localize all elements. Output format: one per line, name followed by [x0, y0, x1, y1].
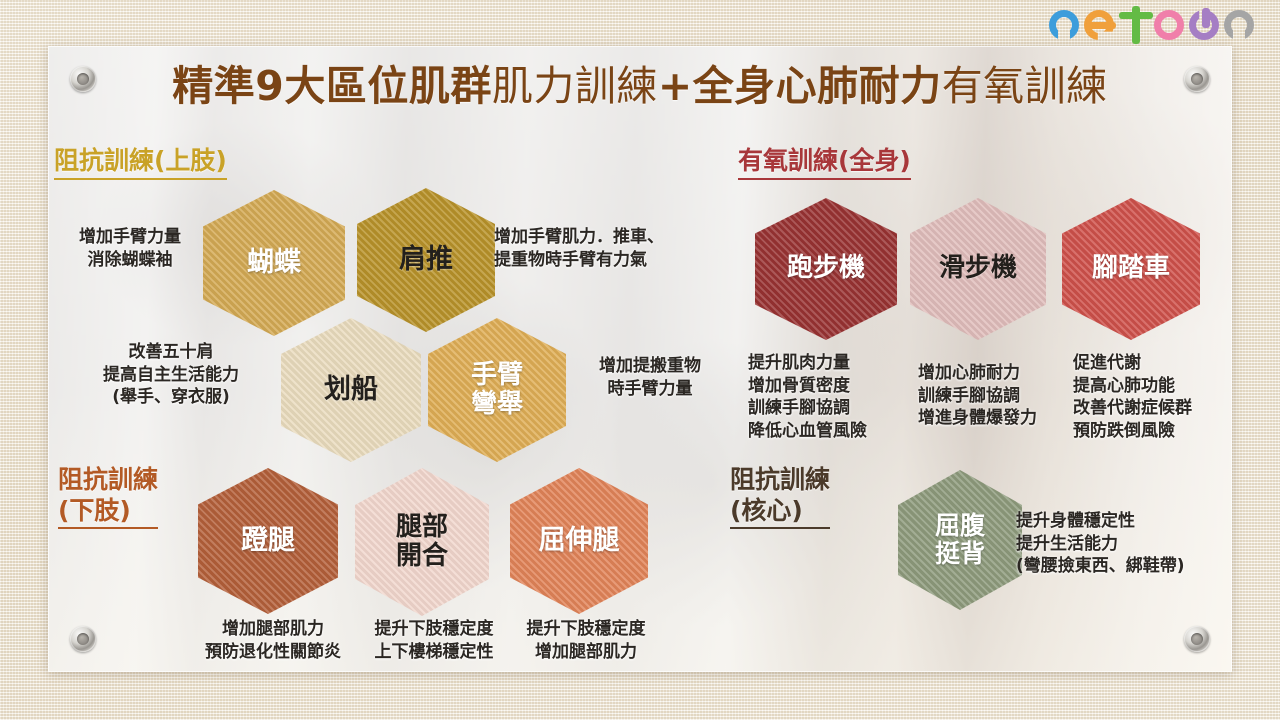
netown-logo	[1049, 6, 1258, 40]
logo-letter-t-icon	[1119, 6, 1153, 40]
note-treadmill: 提升肌肉力量 增加骨質密度 訓練手腳協調 降低心血管風險	[748, 352, 908, 442]
section-heading-core: 阻抗訓練 (核心)	[730, 465, 830, 529]
note-abdominal: 提升身體穩定性 提升生活能力 (彎腰撿東西、綁鞋帶)	[1016, 510, 1246, 578]
page-title: 精準9大區位肌群肌力訓練+全身心肺耐力有氧訓練	[0, 66, 1280, 107]
note-rowing: 改善五十肩 提高自主生活能力 (舉手、穿衣服)	[68, 341, 274, 409]
section-heading-lower-body-label: 阻抗訓練 (下肢)	[58, 465, 158, 529]
logo-letter-w-icon	[1189, 6, 1223, 40]
grommet-top-left-icon	[70, 66, 96, 92]
logo-letter-o-icon	[1154, 6, 1188, 40]
grommet-bottom-left-icon	[70, 626, 96, 652]
title-part-4: 有氧訓練	[942, 62, 1108, 110]
grommet-top-right-icon	[1184, 66, 1210, 92]
logo-letter-e-icon	[1084, 6, 1118, 40]
hexagon-treadmill-label: 跑步機	[787, 254, 865, 283]
note-leg-press: 增加腿部肌力 預防退化性關節炎	[190, 618, 356, 663]
note-arm-curl: 增加提搬重物 時手臂力量	[575, 355, 725, 400]
section-heading-core-label: 阻抗訓練 (核心)	[730, 465, 830, 529]
hexagon-shoulder-press-label: 肩推	[399, 245, 453, 275]
hexagon-elliptical-label: 滑步機	[939, 254, 1017, 283]
section-heading-upper-body: 阻抗訓練(上肢)	[54, 146, 227, 180]
note-hip-abduction: 提升下肢穩定度 上下樓梯穩定性	[356, 618, 512, 663]
logo-letter-n-icon	[1049, 6, 1083, 40]
section-heading-upper-body-label: 阻抗訓練(上肢)	[54, 146, 227, 180]
hexagon-arm-curl-label: 手臂 彎舉	[471, 361, 523, 419]
section-heading-lower-body: 阻抗訓練 (下肢)	[58, 465, 158, 529]
hexagon-leg-extension-label: 屈伸腿	[539, 526, 620, 556]
note-bike: 促進代謝 提高心肺功能 改善代謝症候群 預防跌倒風險	[1073, 352, 1243, 442]
logo-letter-n2-icon	[1224, 6, 1258, 40]
title-part-2: 肌力訓練	[492, 62, 658, 110]
title-plus: +	[658, 62, 693, 110]
section-heading-aerobic-label: 有氧訓練(全身)	[738, 146, 911, 180]
hexagon-butterfly-label: 蝴蝶	[247, 248, 301, 278]
hexagon-abdominal-label: 屈腹 挺背	[935, 512, 985, 568]
hexagon-hip-abduction-label: 腿部 開合	[396, 513, 448, 571]
note-leg-extension: 提升下肢穩定度 增加腿部肌力	[512, 618, 660, 663]
hexagon-rowing-label: 划船	[324, 375, 378, 405]
title-part-1: 精準9大區位肌群	[172, 62, 492, 110]
note-shoulder-press: 增加手臂肌力．推車、 提重物時手臂有力氣	[494, 226, 710, 271]
hexagon-leg-press-label: 蹬腿	[241, 526, 295, 556]
hexagon-bike-label: 腳踏車	[1092, 254, 1170, 283]
note-elliptical: 增加心肺耐力 訓練手腳協調 增進身體爆發力	[918, 362, 1078, 430]
grommet-bottom-right-icon	[1184, 626, 1210, 652]
note-butterfly: 增加手臂力量 消除蝴蝶袖	[55, 226, 205, 271]
section-heading-aerobic: 有氧訓練(全身)	[738, 146, 911, 180]
title-part-3: 全身心肺耐力	[693, 62, 942, 110]
